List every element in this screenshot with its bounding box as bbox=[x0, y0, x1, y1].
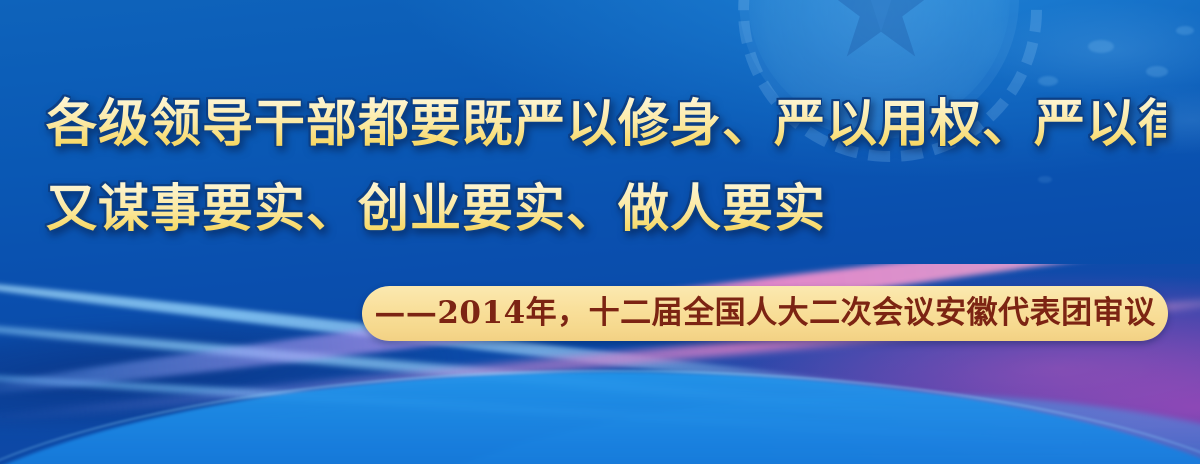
attribution-pill: ——2014年，十二届全国人大二次会议安徽代表团审议 bbox=[362, 286, 1168, 341]
slogan-banner: 各级领导干部都要既严以修身、严以用权、严以律己, 又谋事要实、创业要实、做人要实… bbox=[0, 0, 1200, 464]
attribution-text: ——2014年，十二届全国人大二次会议安徽代表团审议 bbox=[374, 298, 1155, 329]
headline-line-2: 又谋事要实、创业要实、做人要实 bbox=[46, 167, 1166, 252]
five-pointed-star-icon bbox=[822, 0, 940, 66]
headline-block: 各级领导干部都要既严以修身、严以用权、严以律己, 又谋事要实、创业要实、做人要实 bbox=[46, 82, 1166, 252]
bubble-decor bbox=[1088, 40, 1114, 53]
bubble-decor bbox=[1146, 66, 1168, 77]
headline-line-1: 各级领导干部都要既严以修身、严以用权、严以律己, bbox=[46, 82, 1166, 167]
bubble-decor bbox=[1176, 26, 1194, 35]
